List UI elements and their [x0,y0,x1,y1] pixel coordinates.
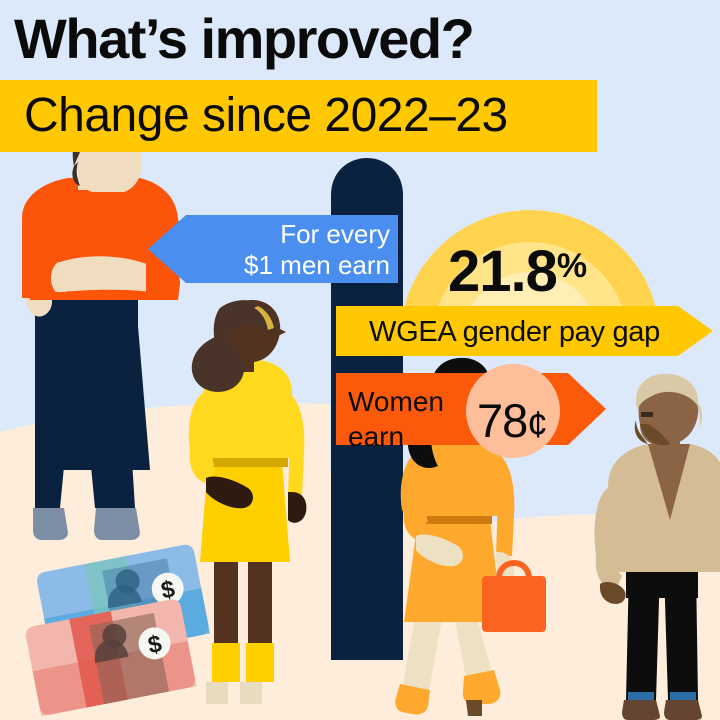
men-earn-sign-label: For every $1 men earn [190,219,390,281]
cents-number: 78 [477,394,527,447]
women-earn-line-2: earn [348,419,444,454]
subtitle-text: Change since 2022‒23 [24,82,597,150]
infographic-canvas: $ $ [0,0,720,720]
pay-gap-number: 21.8 [448,239,557,304]
pay-gap-sign-label: WGEA gender pay gap [369,316,660,349]
men-earn-line-1: For every [190,219,390,250]
cents-symbol: ¢ [527,404,547,445]
women-earn-sign-label: Women earn [348,384,444,454]
men-earn-line-2: $1 men earn [190,250,390,281]
women-earn-line-1: Women [348,384,444,419]
pay-gap-value: 21.8% [448,238,586,305]
page-title: What’s improved? [14,6,473,72]
pay-gap-percent-symbol: % [557,247,586,285]
women-earn-badge-value: 78¢ [477,393,547,448]
